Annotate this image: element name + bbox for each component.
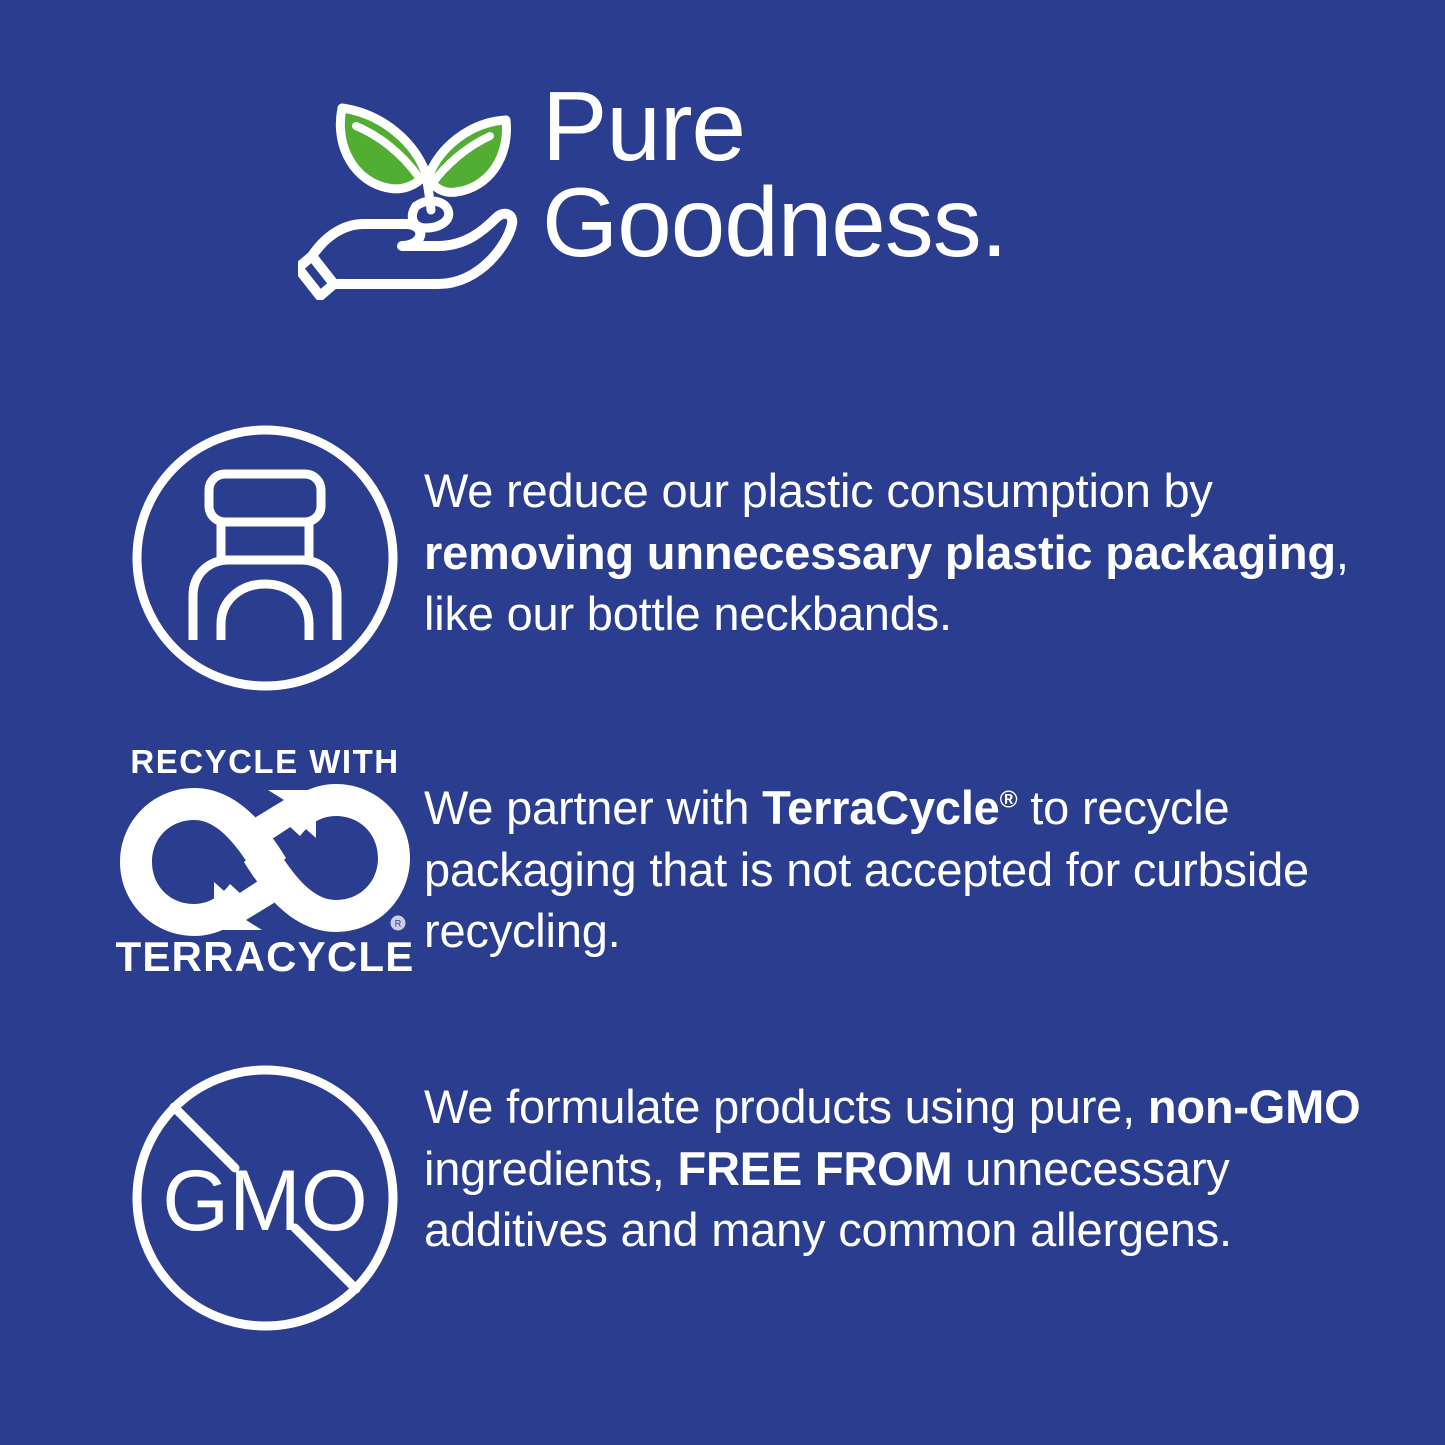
header: Pure Goodness. <box>298 70 1198 320</box>
text-segment: ingredients, <box>424 1142 677 1195</box>
terracycle-logo-stack: RECYCLE WITH <box>115 745 415 978</box>
feature-text-non-gmo: We formulate products using pure, non-GM… <box>420 1058 1410 1261</box>
no-gmo-icon: GMO <box>110 1058 420 1338</box>
poster-canvas: Pure Goodness. We reduce our plastic con… <box>0 0 1445 1445</box>
registered-mark-icon: R <box>391 916 406 931</box>
feature-row-non-gmo: GMO We formulate products using pure, no… <box>110 1058 1410 1338</box>
text-segment-bold: TerraCycle® <box>762 781 1017 834</box>
text-segment-bold: removing unnecessary plastic packaging <box>424 526 1336 579</box>
feature-row-terracycle: RECYCLE WITH <box>110 745 1410 978</box>
terracycle-top-label: RECYCLE WITH <box>130 745 399 778</box>
text-segment-bold: FREE FROM <box>677 1142 952 1195</box>
feature-text-terracycle: We partner with TerraCycle® to recycle p… <box>420 745 1410 962</box>
terracycle-bottom-label: TERRACYCLE <box>115 936 414 978</box>
text-segment: We reduce our plastic consumption by <box>424 464 1213 517</box>
text-segment-bold: non-GMO <box>1148 1080 1361 1133</box>
terracycle-logo: RECYCLE WITH <box>110 745 420 978</box>
registered-symbol: ® <box>1000 786 1018 813</box>
text-segment: We formulate products using pure, <box>424 1080 1148 1133</box>
bottle-neckband-circle-icon <box>110 418 420 698</box>
svg-text:R: R <box>395 919 402 929</box>
page-title: Pure Goodness. <box>542 70 1007 270</box>
infinity-recycle-arrows-icon: R <box>120 784 410 934</box>
gmo-label: GMO <box>162 1153 367 1249</box>
feature-text-plastic-reduction: We reduce our plastic consumption by rem… <box>420 418 1410 645</box>
hand-holding-sprout-icon <box>298 78 520 300</box>
text-segment: We partner with <box>424 781 762 834</box>
feature-row-plastic-reduction: We reduce our plastic consumption by rem… <box>110 418 1410 698</box>
